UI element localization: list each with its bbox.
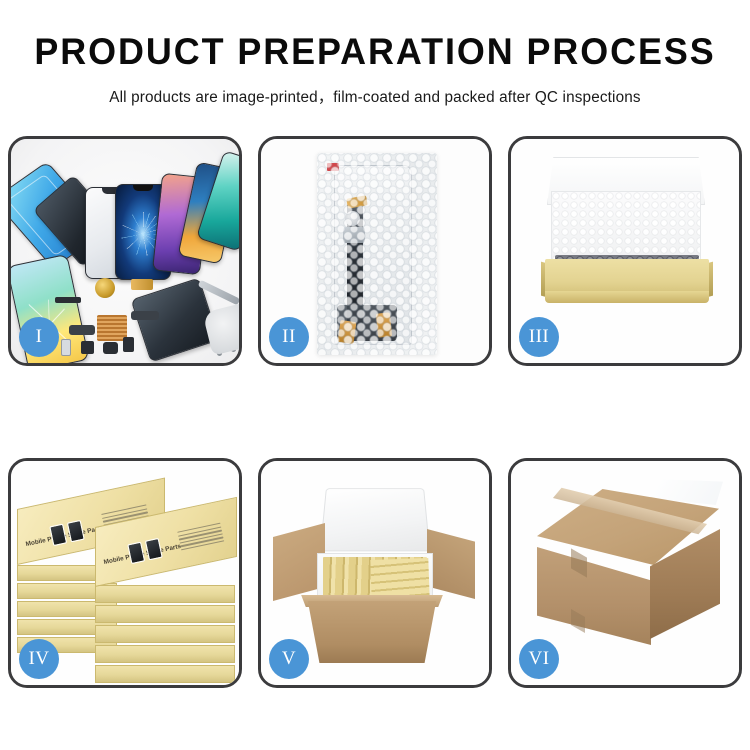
page-header: PRODUCT PREPARATION PROCESS All products…: [0, 0, 750, 107]
carton-flap-right-icon: [427, 529, 475, 599]
step-badge: I: [19, 317, 59, 357]
stacked-box: [95, 625, 235, 643]
flex-cable-secondary-icon: [131, 311, 159, 320]
bubble-texture-icon: [317, 153, 437, 355]
step-badge: IV: [19, 639, 59, 679]
step-badge: III: [519, 317, 559, 357]
foam-lid-icon: [320, 488, 431, 551]
adhesive-tape-icon: [131, 279, 153, 290]
speaker-component-icon: [55, 297, 81, 303]
carton-front-panel-icon: [299, 601, 445, 663]
battery-connector-icon: [123, 337, 134, 352]
step-badge: VI: [519, 639, 559, 679]
sim-tray-icon: [61, 339, 71, 356]
gold-coil-component-icon: [95, 278, 115, 298]
box-front-lip-icon: [545, 291, 709, 303]
open-carton-panel: V: [258, 458, 492, 688]
flex-cable-icon: [69, 325, 95, 335]
phone-thumbnail-icon: [127, 542, 145, 564]
stacked-boxes-panel: Mobile Phone Spare Parts Mobile Phone Sp…: [8, 458, 242, 688]
page-title: PRODUCT PREPARATION PROCESS: [11, 30, 739, 74]
stacked-box: [95, 585, 235, 603]
stacked-box: [95, 645, 235, 663]
step-badge: V: [269, 639, 309, 679]
flat-box-panel: III: [508, 136, 742, 366]
carton-left-face-icon: [537, 547, 651, 645]
stacked-box: [95, 665, 235, 683]
bubble-wrapped-screen-panel: II: [258, 136, 492, 366]
phone-parts-panel: I: [8, 136, 242, 366]
sealed-carton-panel: VI: [508, 458, 742, 688]
small-chip-icon: [81, 341, 94, 354]
phone-thumbnail-icon: [49, 524, 67, 546]
process-step-grid: I II: [8, 136, 742, 744]
yellow-boxes-stack-icon: [370, 558, 429, 600]
bubble-wrap-bag-icon: [317, 153, 437, 355]
stacked-box: [95, 605, 235, 623]
camera-module-icon: [103, 342, 118, 354]
product-preparation-process-page: PRODUCT PREPARATION PROCESS All products…: [0, 0, 750, 750]
step-badge: II: [269, 317, 309, 357]
page-subtitle: All products are image-printed，film-coat…: [0, 85, 750, 107]
